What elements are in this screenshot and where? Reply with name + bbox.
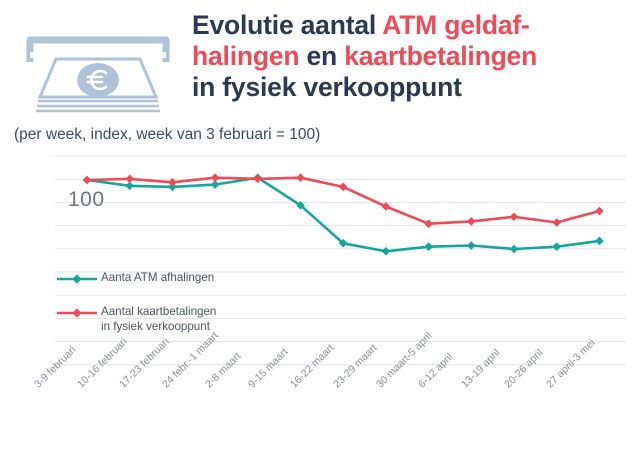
data-point-marker[interactable] xyxy=(552,242,561,251)
data-point-marker[interactable] xyxy=(510,213,519,222)
legend-marker-atm xyxy=(57,272,97,284)
data-point-marker[interactable] xyxy=(211,173,220,182)
title-segment-3: halingen xyxy=(192,41,299,71)
title-segment-5: kaartbetalingen xyxy=(344,41,537,71)
data-point-marker[interactable] xyxy=(424,219,433,228)
data-point-marker[interactable] xyxy=(595,207,604,216)
data-point-marker[interactable] xyxy=(424,242,433,251)
y-axis-label-100: 100 xyxy=(68,188,105,212)
legend-item-card[interactable]: Aantal kaartbetalingenin fysiek verkoopp… xyxy=(57,312,287,342)
data-point-marker[interactable] xyxy=(382,202,391,211)
chart-subtitle: (per week, index, week van 3 februari = … xyxy=(14,126,320,144)
title-segment-1: Evolutie aantal xyxy=(192,10,382,40)
chart-header: Evolutie aantal ATM geldaf- halingen en … xyxy=(0,0,636,120)
chart-legend: Aanta ATM afhalingen Aantal kaartbetalin… xyxy=(57,278,287,360)
legend-label-atm: Aanta ATM afhalingen xyxy=(101,271,214,286)
data-point-marker[interactable] xyxy=(296,173,305,182)
data-point-marker[interactable] xyxy=(125,175,134,184)
data-point-marker[interactable] xyxy=(510,245,519,254)
legend-label-card-line1: Aantal kaartbetalingen xyxy=(101,305,216,318)
euro-banknotes-atm-icon xyxy=(18,28,178,114)
legend-label-card: Aantal kaartbetalingenin fysiek verkoopp… xyxy=(101,305,216,334)
chart-page: Evolutie aantal ATM geldaf- halingen en … xyxy=(0,0,636,461)
data-point-marker[interactable] xyxy=(339,183,348,192)
chart-series-layer xyxy=(83,173,604,255)
data-point-marker[interactable] xyxy=(254,175,263,184)
title-segment-4: en xyxy=(299,41,344,71)
data-point-marker[interactable] xyxy=(382,247,391,256)
x-axis: 3-9 februari10-16 februari17-23 februari… xyxy=(0,370,636,461)
title-segment-2: ATM geldaf- xyxy=(382,10,529,40)
legend-label-card-line2: in fysiek verkooppunt xyxy=(101,320,210,333)
page-title: Evolutie aantal ATM geldaf- halingen en … xyxy=(192,10,636,103)
data-point-marker[interactable] xyxy=(595,237,604,246)
data-point-marker[interactable] xyxy=(83,176,92,185)
title-segment-6: in fysiek verkooppunt xyxy=(192,72,462,102)
legend-marker-card xyxy=(57,306,97,318)
data-point-marker[interactable] xyxy=(467,217,476,226)
legend-item-atm[interactable]: Aanta ATM afhalingen xyxy=(57,278,287,294)
